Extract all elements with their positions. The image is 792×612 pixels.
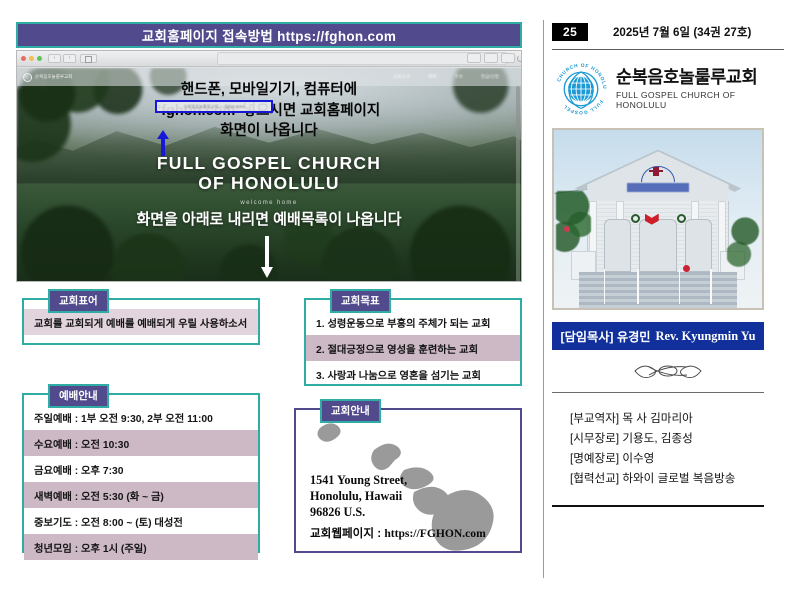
church-goals-tab: 교회목표 xyxy=(330,289,391,313)
scrollbar-thumb[interactable] xyxy=(516,86,520,156)
browser-right-buttons[interactable] xyxy=(467,53,515,63)
list-item: [협력선교] 하와이 글로벌 복음방송 xyxy=(570,469,784,489)
photo-railing xyxy=(710,269,712,305)
photo-church-sign xyxy=(627,183,689,192)
issue-date: 2025년 7월 6일 (34권 27호) xyxy=(588,24,776,40)
church-slogan-tab: 교회표어 xyxy=(48,289,109,313)
staff-label-2: [명예장로] xyxy=(570,452,619,465)
address-line-2: Honolulu, Hawaii xyxy=(310,488,407,504)
hero-title-en: FULL GOSPEL CHURCH OF HONOLULU xyxy=(17,154,521,193)
church-name-block: 순복음호놀룰루교회 FULL GOSPEL CHURCH OF HONOLULU xyxy=(616,68,784,109)
browser-nav-buttons[interactable]: ‹ › xyxy=(48,54,76,63)
share-icon[interactable] xyxy=(467,53,481,63)
church-address: 1541 Young Street, Honolulu, Hawaii 9682… xyxy=(310,472,407,520)
list-item: [부교역자] 목 사 김마리아 xyxy=(570,409,784,429)
left-page: 교회홈페이지 접속방법 https://fghon.com ‹ › xyxy=(16,22,522,576)
church-name-en: FULL GOSPEL CHURCH OF HONOLULU xyxy=(616,90,784,110)
church-goals-box: 교회목표 1. 성령운동으로 부흥의 주체가 되는 교회 2. 절대긍정으로 영… xyxy=(304,298,522,386)
table-row: 금요예배 : 오후 7:30 xyxy=(24,456,258,482)
staff-label-0: [부교역자] xyxy=(570,412,619,425)
photo-door-center xyxy=(639,219,676,272)
close-icon[interactable] xyxy=(21,56,26,61)
instruction-line-1: 핸드폰, 모바일기기, 컴퓨터에 xyxy=(17,80,521,101)
photo-wreath-left xyxy=(631,214,640,223)
church-goals-rows: 1. 성령운동으로 부흥의 주체가 되는 교회 2. 절대긍정으로 영성을 훈련… xyxy=(306,300,520,387)
church-logo-icon: CHURCH OF HONOLULU FULL GOSPEL xyxy=(554,62,608,116)
staff-section-rule-top xyxy=(552,392,764,393)
worship-schedule-tab: 예배안내 xyxy=(48,384,109,408)
church-logo-row: CHURCH OF HONOLULU FULL GOSPEL 순복음호놀룰루교회… xyxy=(552,62,784,116)
staff-list: [부교역자] 목 사 김마리아 [시무장로] 기용도, 김종성 [명예장로] 이… xyxy=(552,409,784,489)
reload-icon[interactable] xyxy=(517,55,522,62)
new-tab-icon[interactable] xyxy=(501,53,515,63)
sidebar-toggle-icon[interactable] xyxy=(80,54,97,63)
instruction-line-3: 화면이 나옵니다 xyxy=(17,121,521,142)
decorative-flourish xyxy=(552,362,784,380)
staff-value-2: 이수영 xyxy=(622,452,654,465)
url-text: 순복음호놀룰루교회 — fghon.com xyxy=(184,104,245,110)
address-bar[interactable] xyxy=(217,52,507,65)
page-banner: 교회홈페이지 접속방법 https://fghon.com xyxy=(16,22,522,48)
browser-chrome-bar: ‹ › xyxy=(17,51,521,67)
church-building-photo xyxy=(552,128,764,310)
church-website-url[interactable]: https://FGHON.com xyxy=(384,527,485,540)
url-highlight-box[interactable]: 순복음호놀룰루교회 — fghon.com xyxy=(155,100,273,113)
address-line-3: 96826 U.S. xyxy=(310,504,407,520)
church-website-line: 교회웹페이지 : https://FGHON.com xyxy=(310,525,486,541)
photo-railing xyxy=(679,269,681,305)
photo-door-left xyxy=(604,219,631,272)
maximize-icon[interactable] xyxy=(37,56,42,61)
church-info-box: 교회안내 1541 Young Street, Honolulu, Hawaii… xyxy=(294,408,522,553)
down-arrow-icon xyxy=(260,236,274,278)
page-scrollbar[interactable] xyxy=(516,86,520,282)
minimize-icon[interactable] xyxy=(29,56,34,61)
tabs-icon[interactable] xyxy=(484,53,498,63)
staff-label-1: [시무장로] xyxy=(570,432,619,445)
table-row: 3. 사랑과 나눔으로 영혼을 섬기는 교회 xyxy=(306,361,520,387)
table-row: 2. 절대긍정으로 영성을 훈련하는 교회 xyxy=(306,335,520,361)
hero-title-en-line1: FULL GOSPEL CHURCH xyxy=(17,154,521,174)
address-line-1: 1541 Young Street, xyxy=(310,472,407,488)
senior-pastor-banner: [담임목사] 유경민 Rev. Kyungmin Yu xyxy=(552,322,764,350)
photo-railing xyxy=(637,269,639,305)
church-slogan-box: 교회표어 교회를 교회되게 예배를 예배되게 우릴 사용하소서 xyxy=(22,298,260,345)
worship-schedule-rows: 주일예배 : 1부 오전 9:30, 2부 오전 11:00 수요예배 : 오전… xyxy=(24,395,258,560)
staff-label-3: [협력선교] xyxy=(570,472,619,485)
browser-screenshot: ‹ › 순복음호놀룰루교회 — fghon.com 순복음호놀 xyxy=(16,50,522,282)
hawaii-map: 1541 Young Street, Honolulu, Hawaii 9682… xyxy=(296,410,520,551)
hero-scroll-hint: 화면을 아래로 내리면 예배목록이 나옵니다 xyxy=(17,208,521,229)
photo-palm-right xyxy=(727,212,760,276)
hero-title-en-line2: OF HONOLULU xyxy=(17,174,521,194)
worship-schedule-box: 예배안내 주일예배 : 1부 오전 9:30, 2부 오전 11:00 수요예배… xyxy=(22,393,260,553)
table-row: 새벽예배 : 오전 5:30 (화 ~ 금) xyxy=(24,482,258,508)
right-page: 25 2025년 7월 6일 (34권 27호) xyxy=(552,22,784,578)
church-name-kr: 순복음호놀룰루교회 xyxy=(616,68,784,87)
list-item: [시무장로] 기용도, 김종성 xyxy=(570,429,784,449)
issue-header: 25 2025년 7월 6일 (34권 27호) xyxy=(552,22,784,42)
list-item: [명예장로] 이수영 xyxy=(570,449,784,469)
photo-door-right xyxy=(685,219,712,272)
staff-value-3: 하와이 글로벌 복음방송 xyxy=(622,472,735,485)
page-divider xyxy=(543,20,544,578)
photo-wreath-right xyxy=(677,214,686,223)
photo-railing xyxy=(604,269,606,305)
photo-palm-left xyxy=(556,191,591,266)
back-icon[interactable]: ‹ xyxy=(48,54,61,63)
page-number-badge: 25 xyxy=(552,23,588,41)
staff-section-rule-bottom xyxy=(552,505,764,507)
forward-icon[interactable]: › xyxy=(63,54,76,63)
staff-value-1: 기용도, 김종성 xyxy=(622,432,692,445)
church-website-label: 교회웹페이지 : xyxy=(310,527,384,540)
staff-value-0: 목 사 김마리아 xyxy=(622,412,692,425)
hero-welcome-text: welcome home xyxy=(17,200,521,206)
table-row: 청년모임 : 오후 1시 (주일) xyxy=(24,534,258,560)
window-controls[interactable] xyxy=(21,56,42,61)
table-row: 중보기도 : 오전 8:00 ~ (토) 대성전 xyxy=(24,508,258,534)
senior-pastor-title-kr: [담임목사] 유경민 xyxy=(561,327,651,345)
cross-icon xyxy=(653,167,659,176)
table-row: 수요예배 : 오전 10:30 xyxy=(24,430,258,456)
senior-pastor-name-en: Rev. Kyungmin Yu xyxy=(656,329,756,344)
photo-steps xyxy=(579,272,737,308)
header-rule xyxy=(552,49,784,50)
up-arrow-icon xyxy=(157,130,169,156)
